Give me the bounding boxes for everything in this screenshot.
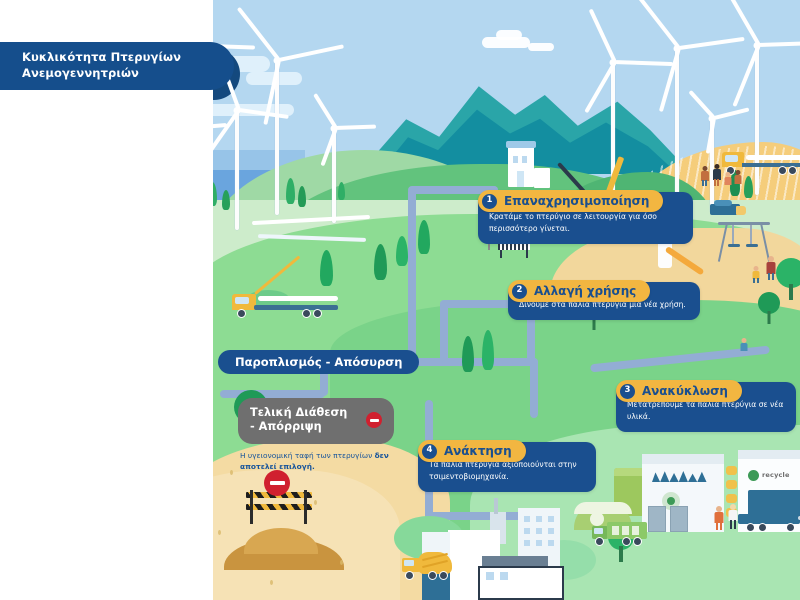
container-unit bbox=[710, 200, 746, 216]
callout-number: 2 bbox=[512, 284, 527, 299]
disposal-title: Τελική Διάθεση - Απόρριψη bbox=[250, 406, 347, 435]
callout-title: Αλλαγή χρήσης bbox=[534, 282, 636, 301]
callout-text: Τα παλιά πτερύγια αξιοποιούνται στην τσι… bbox=[429, 459, 585, 483]
house-annex bbox=[534, 168, 550, 188]
sand-speck bbox=[230, 470, 233, 475]
callout-number: 1 bbox=[482, 194, 497, 209]
flow-path bbox=[440, 300, 448, 362]
callout-number: 3 bbox=[620, 384, 635, 399]
disposal-block[interactable]: Τελική Διάθεση - Απόρριψη Η υγειονομική … bbox=[238, 398, 394, 472]
banner-line-2: Ανεμογεννητριών bbox=[22, 66, 139, 80]
person-child bbox=[734, 170, 742, 187]
person bbox=[700, 166, 709, 186]
person bbox=[766, 256, 776, 280]
crane-arm-left bbox=[256, 232, 316, 296]
callout-header: 3 Ανακύκλωση bbox=[616, 380, 742, 402]
cloud-icon bbox=[496, 30, 522, 40]
callout-title: Ανακύκλωση bbox=[642, 382, 728, 401]
title-banner: Κυκλικότητα Πτερυγίων Ανεμογεννητριών bbox=[0, 42, 234, 90]
flow-path bbox=[408, 188, 416, 363]
callout-header: 1 Επαναχρησιμοποίηση bbox=[478, 190, 663, 212]
worker bbox=[714, 506, 724, 530]
recycle-logo-icon bbox=[748, 470, 759, 481]
callout-reuse[interactable]: 1 Επαναχρησιμοποίηση Κρατάμε το πτερύγιο… bbox=[478, 192, 693, 244]
tree-icon bbox=[758, 292, 780, 324]
recycle-label: recycle bbox=[762, 471, 790, 479]
callout-repurpose[interactable]: 2 Αλλαγή χρήσης Δίνουμε στα παλιά πτερύγ… bbox=[508, 282, 700, 320]
disposal-title-line2: - Απόρριψη bbox=[250, 420, 322, 433]
no-entry-icon bbox=[366, 412, 382, 428]
banner-line-1: Κυκλικότητα Πτερυγίων bbox=[22, 50, 181, 64]
banner-text: Κυκλικότητα Πτερυγίων Ανεμογεννητριών bbox=[0, 50, 181, 81]
disposal-note: Η υγειονομική ταφή των πτερυγίων δεν απο… bbox=[238, 450, 394, 472]
illustration-scene: recycle bbox=[210, 0, 800, 600]
callout-header: 4 Ανάκτηση bbox=[418, 440, 526, 462]
callout-text: Μετατρέπουμε τα παλιά πτερύγια σε νέα υλ… bbox=[627, 399, 785, 423]
disposal-title-line1: Τελική Διάθεση bbox=[250, 406, 347, 419]
person-child bbox=[752, 266, 760, 282]
sand-speck bbox=[340, 560, 343, 565]
person-toddler bbox=[740, 338, 748, 352]
sand-speck bbox=[218, 530, 221, 535]
callout-recovery[interactable]: 4 Ανάκτηση Τα παλιά πτερύγια αξιοποιούντ… bbox=[418, 442, 596, 492]
sand-speck bbox=[314, 500, 317, 505]
callout-text: Κρατάμε το πτερύγιο σε λειτουργία για όσ… bbox=[489, 211, 682, 235]
wind-turbine bbox=[272, 60, 282, 215]
callout-title: Ανάκτηση bbox=[444, 442, 512, 461]
disposal-note-normal: Η υγειονομική ταφή των πτερυγίων bbox=[240, 451, 375, 460]
person bbox=[712, 164, 721, 186]
recycling-truck-trailer bbox=[738, 514, 800, 534]
playground-slide bbox=[658, 240, 712, 282]
worker bbox=[728, 504, 738, 530]
green-recycling-truck bbox=[592, 522, 648, 546]
disposal-box: Τελική Διάθεση - Απόρριψη bbox=[238, 398, 394, 444]
cement-mixer-truck bbox=[402, 552, 460, 580]
stage-label-decommissioning[interactable]: Παροπλισμός - Απόσυρση bbox=[218, 350, 419, 374]
left-panel bbox=[0, 0, 213, 600]
infographic-page: recycle bbox=[0, 0, 800, 600]
flow-path bbox=[530, 358, 538, 418]
callout-title: Επαναχρησιμοποίηση bbox=[504, 192, 649, 211]
sand-speck bbox=[270, 580, 273, 585]
callout-number: 4 bbox=[422, 444, 437, 459]
house bbox=[508, 147, 534, 187]
wind-turbine bbox=[330, 128, 338, 223]
cloud-icon bbox=[528, 43, 554, 51]
playground-swings bbox=[718, 222, 770, 266]
no-entry-sign-icon bbox=[264, 470, 290, 496]
tree-cypress-icon bbox=[338, 182, 345, 200]
wind-turbine bbox=[232, 110, 242, 230]
callout-header: 2 Αλλαγή χρήσης bbox=[508, 280, 650, 302]
person-child bbox=[724, 172, 732, 187]
callout-recycle[interactable]: 3 Ανακύκλωση Μετατρέπουμε τα παλιά πτερύ… bbox=[616, 382, 796, 432]
